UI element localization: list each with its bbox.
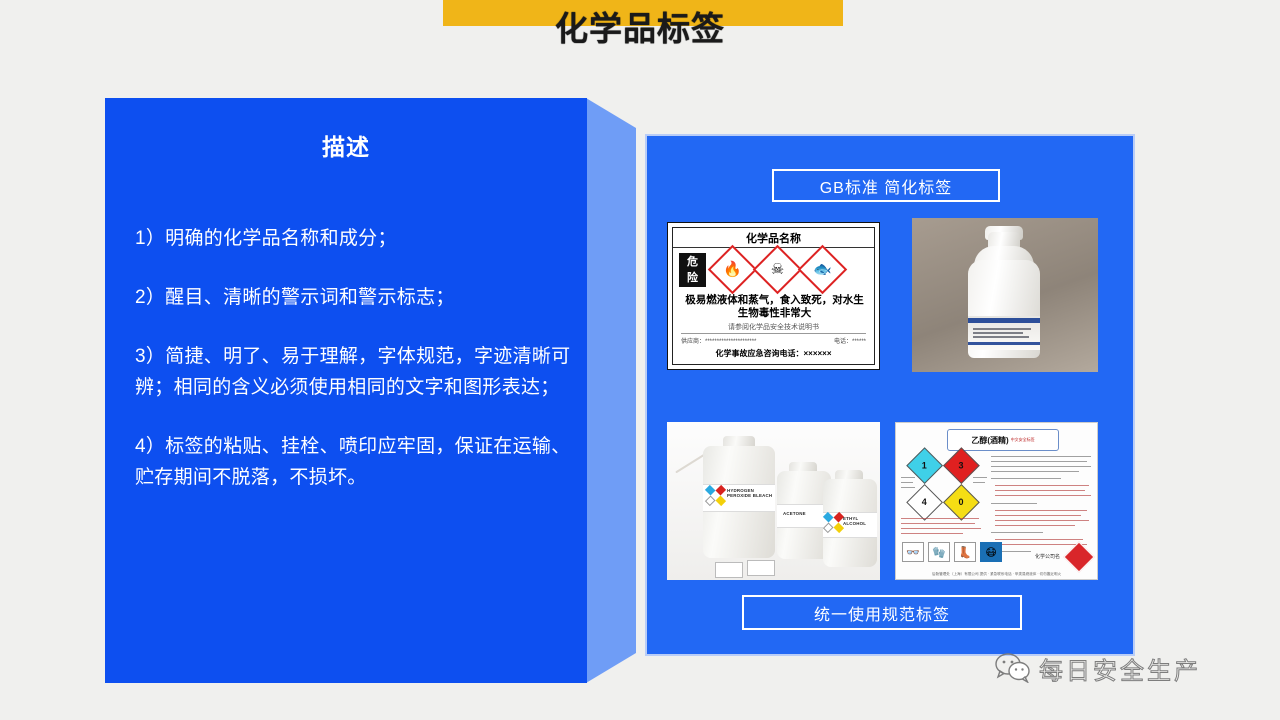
nfpa-704-diamond: 3 1 0 4: [906, 447, 980, 521]
label-text-line: [973, 328, 1031, 330]
nfpa-diamond-icon: [823, 512, 844, 533]
ethanol-safety-label-image: 乙醇(酒精) 中文安全标签 3 1 0 4: [895, 422, 1098, 580]
skull-crossbones-icon: ☠: [753, 245, 802, 294]
sheet-title-box: 乙醇(酒精) 中文安全标签: [947, 429, 1059, 451]
gb-emergency-phone: 化学事故应急咨询电话：××××××: [673, 348, 874, 359]
gb-standard-label-image: 化学品名称 危险 🔥 ☠ 🐟 极易燃液体和蒸气，食入致死，对水生生物毒性非常大 …: [667, 222, 880, 370]
respirator-icon: 😷: [980, 542, 1002, 562]
watermark: 每日安全生产: [995, 648, 1275, 688]
bottle-label-text: HYDROGEN PEROXIDE BLEACH: [727, 488, 773, 499]
gb-sds-note: 请参阅化学品安全技术说明书: [673, 322, 874, 332]
gb-label-title: 化学品名称: [673, 228, 874, 248]
list-item: 2）醒目、清晰的警示词和警示标志；: [135, 282, 575, 313]
wechat-icon: [995, 653, 1031, 683]
list-item: 4）标签的粘贴、挂栓、喷印应牢固，保证在运输、贮存期间不脱落，不损坏。: [135, 431, 575, 493]
sample-card: [747, 560, 775, 576]
labeled-bottle-photo: [912, 218, 1098, 372]
label-text-line: [973, 336, 1029, 338]
nfpa-diamond-icon: [705, 485, 726, 506]
panel-front-face: 描述 1）明确的化学品名称和成分； 2）醒目、清晰的警示词和警示标志； 3）简捷…: [105, 98, 587, 683]
requirement-list: 1）明确的化学品名称和成分； 2）醒目、清晰的警示词和警示标志； 3）简捷、明了…: [135, 223, 575, 521]
gb-divider: [681, 333, 866, 334]
bottle-label-text: ETHYL ALCOHOL: [843, 516, 879, 527]
flame-icon: 🔥: [708, 245, 757, 294]
panel-heading: 描述: [105, 128, 587, 162]
ghs-pictogram-row: 🔥 ☠ 🐟: [715, 252, 840, 287]
gb-supplier-row: 供应商：********************** 电话：******: [681, 336, 866, 345]
gb-label-inner-border: 化学品名称 危险 🔥 ☠ 🐟 极易燃液体和蒸气，食入致死，对水生生物毒性非常大 …: [672, 227, 875, 365]
boots-icon: 👢: [954, 542, 976, 562]
sheet-title-sub: 中文安全标签: [1011, 437, 1035, 443]
list-item: 1）明确的化学品名称和成分；: [135, 223, 575, 254]
examples-panel: GB标准 简化标签 化学品名称 危险 🔥 ☠ 🐟 极易燃液体和蒸气，食入致死，对…: [645, 134, 1135, 656]
gb-supplier-text: 供应商：**********************: [681, 336, 756, 345]
panel-3d-extrusion: [586, 98, 636, 683]
sheet-signature: 化学公司名: [1035, 553, 1060, 560]
gb-hazard-statement: 极易燃液体和蒸气，食入致死，对水生生物毒性非常大: [683, 294, 866, 320]
label-stripe-bottom: [968, 342, 1040, 345]
gb-signal-word: 危险: [679, 253, 706, 287]
bottle-label: [968, 316, 1040, 350]
tag-gb-standard-label: GB标准 简化标签: [772, 169, 1000, 202]
sheet-title: 乙醇(酒精): [971, 435, 1008, 446]
environment-icon: 🐟: [798, 245, 847, 294]
sheet-footer: 后勤管理处（上海）有限公司 提供 · 紧急联系电话 · 甲类易燃液体 · 切勿靠…: [895, 572, 1098, 577]
gb-phone-text: 电话：******: [834, 336, 866, 345]
gloves-icon: 🧤: [928, 542, 950, 562]
description-panel: 描述 1）明确的化学品名称和成分； 2）醒目、清晰的警示词和警示标志； 3）简捷…: [105, 98, 650, 683]
three-bottles-photo: HYDROGEN PEROXIDE BLEACH ACETONE ETHYL A…: [667, 422, 880, 580]
list-item: 3）简捷、明了、易于理解，字体规范，字迹清晰可辨；相同的含义必须使用相同的文字和…: [135, 341, 575, 403]
label-stripe-top: [968, 318, 1040, 323]
eye-protection-icon: 👓: [902, 542, 924, 562]
label-text-line: [973, 332, 1023, 334]
watermark-text: 每日安全生产: [1039, 651, 1201, 686]
page-title: 化学品标签: [0, 2, 1280, 50]
sample-card: [715, 562, 743, 578]
tag-unified-label: 统一使用规范标签: [742, 595, 1022, 630]
